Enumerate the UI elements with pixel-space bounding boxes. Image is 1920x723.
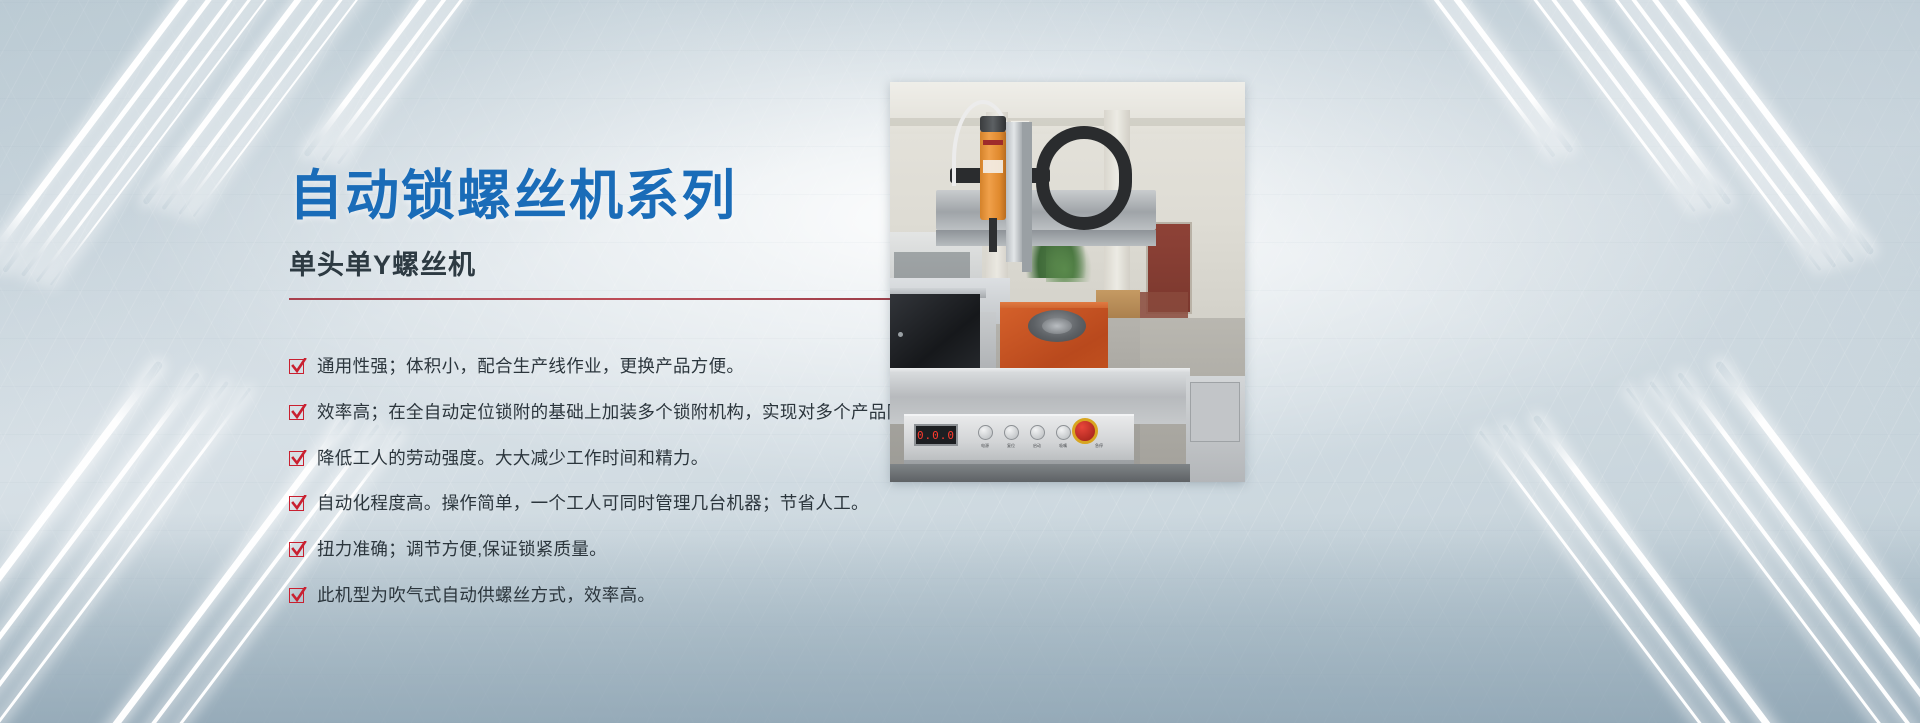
- list-item: 此机型为吹气式自动供螺丝方式，效率高。: [289, 584, 1109, 607]
- control-button-label: 吸嘴: [1054, 443, 1072, 449]
- display-value: 0.0.0: [917, 429, 955, 442]
- digital-display: 0.0.0: [914, 424, 958, 446]
- screwdriver-bit: [989, 218, 997, 252]
- list-item-label: 通用性强；体积小，配合生产线作业，更换产品方便。: [317, 355, 744, 378]
- workpiece-center: [1042, 318, 1072, 334]
- screwdriver-label: [983, 140, 1003, 145]
- list-item-label: 效率高；在全自动定位锁附的基础上加装多个锁附机构，实现对多个产品同时锁附。: [317, 401, 976, 424]
- title-divider: [289, 298, 890, 300]
- machine-cable-chain: [1036, 126, 1132, 230]
- list-item: 自动化程度高。操作简单，一个工人可同时管理几台机器；节省人工。: [289, 492, 1109, 515]
- control-button[interactable]: [1030, 425, 1045, 440]
- machine-gantry-lower: [936, 230, 1156, 246]
- banner-stage: 自动锁螺丝机系列 单头单Y螺丝机 通用性强；体积小，配合生产线作业，更换产品方便…: [0, 0, 1920, 723]
- photo-beam: [890, 118, 1245, 126]
- list-item-label: 此机型为吹气式自动供螺丝方式，效率高。: [317, 584, 655, 607]
- check-box-icon: [289, 359, 304, 374]
- control-button-label: 电源: [976, 443, 994, 449]
- control-button-label: 急停: [1090, 443, 1108, 449]
- list-item: 扭力准确；调节方便,保证锁紧质量。: [289, 538, 1109, 561]
- list-item-label: 扭力准确；调节方便,保证锁紧质量。: [317, 538, 607, 561]
- banner-content: 自动锁螺丝机系列 单头单Y螺丝机 通用性强；体积小，配合生产线作业，更换产品方便…: [0, 0, 1920, 723]
- machine-screw-feeder: [890, 294, 980, 374]
- feeder-screw: [898, 332, 903, 337]
- product-photo: 0.0.0 电源 复位 启动 吸嘴 急停: [890, 82, 1245, 482]
- screwdriver-label: [983, 160, 1003, 173]
- list-item-label: 自动化程度高。操作简单，一个工人可同时管理几台机器；节省人工。: [317, 492, 869, 515]
- machine-z-rail: [1006, 122, 1022, 262]
- control-button-label: 复位: [1002, 443, 1020, 449]
- control-button[interactable]: [1004, 425, 1019, 440]
- control-button-label: 启动: [1028, 443, 1046, 449]
- control-panel[interactable]: 0.0.0 电源 复位 启动 吸嘴 急停: [904, 414, 1134, 460]
- machine-base-shadow: [890, 464, 1190, 482]
- check-box-icon: [289, 451, 304, 466]
- list-item-label: 降低工人的劳动强度。大大减少工作时间和精力。: [317, 447, 709, 470]
- emergency-stop-button[interactable]: [1072, 418, 1098, 444]
- photo-cart: [1140, 292, 1188, 318]
- screwdriver-top-cap: [980, 116, 1006, 132]
- control-button[interactable]: [1056, 425, 1071, 440]
- check-box-icon: [289, 405, 304, 420]
- machine-side-panel-inner: [1190, 382, 1240, 442]
- check-box-icon: [289, 588, 304, 603]
- machine-z-rail-back: [1022, 122, 1032, 272]
- photo-ceiling: [890, 82, 1245, 134]
- check-box-icon: [289, 496, 304, 511]
- check-box-icon: [289, 542, 304, 557]
- control-button[interactable]: [978, 425, 993, 440]
